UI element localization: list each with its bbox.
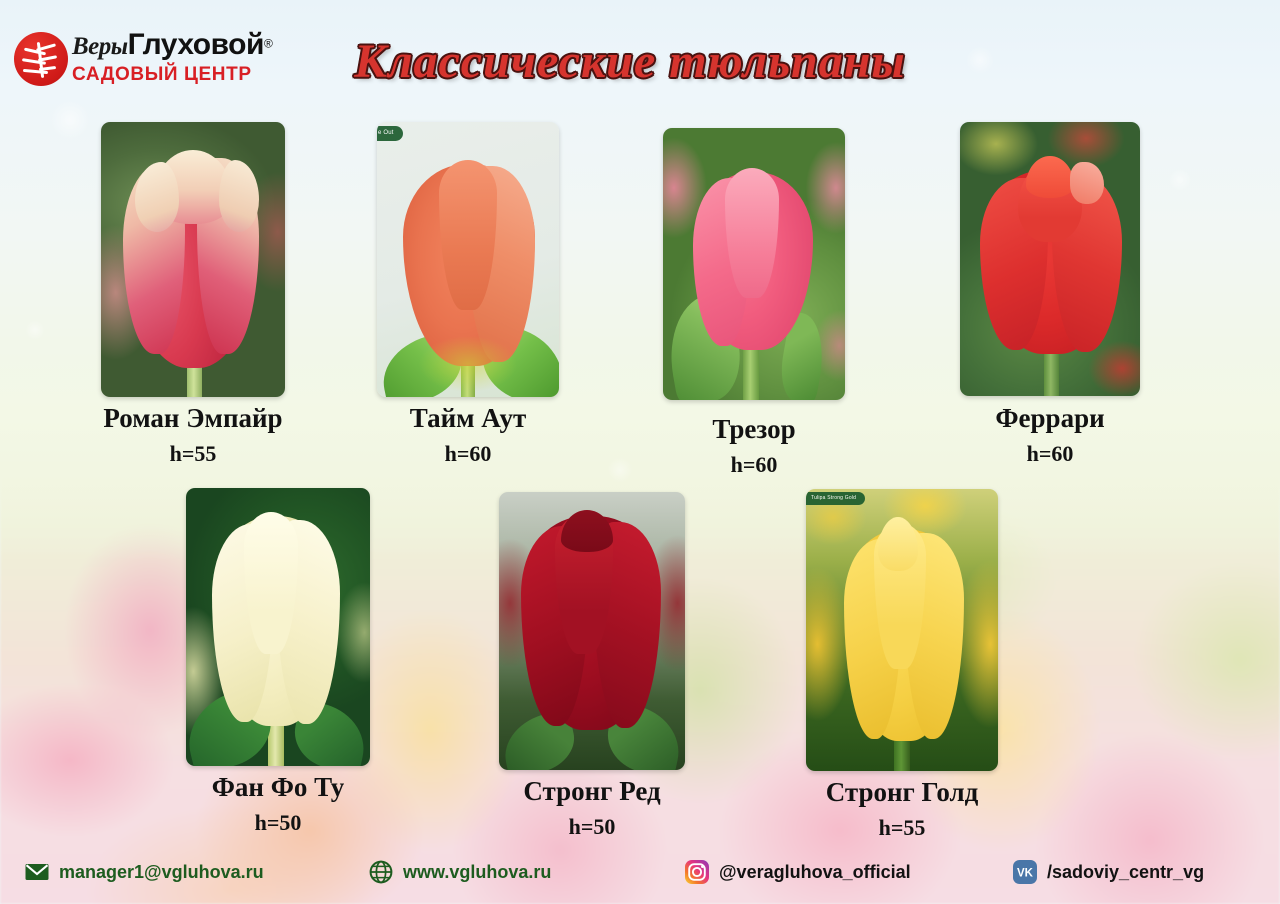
vk-text: /sadoviy_centr_vg [1047, 862, 1204, 883]
tulip-height: h=60 [995, 441, 1104, 467]
tulip-name: Трезор [712, 414, 795, 444]
tulip-name: Феррари [995, 403, 1104, 433]
tulip-caption: Феррари h=60 [995, 403, 1104, 467]
instagram-text: @veragluhova_official [719, 862, 911, 883]
tulip-pink-photo [663, 128, 845, 400]
tulip-caption: Стронг Ред h=50 [523, 776, 660, 840]
tulip-scarlet-photo [960, 122, 1140, 396]
tulip-caption: Стронг Голд h=55 [826, 777, 979, 841]
tulip-height: h=60 [712, 452, 795, 478]
tulip-name: Фан Фо Ту [212, 772, 345, 802]
contact-bar: manager1@vgluhova.ru www.vgluhova.ru [0, 846, 1280, 904]
email-text: manager1@vgluhova.ru [59, 862, 264, 883]
contact-vk[interactable]: VK /sadoviy_centr_vg [1012, 859, 1204, 885]
contact-website[interactable]: www.vgluhova.ru [368, 859, 551, 885]
brand-script-word: Веры [72, 33, 128, 60]
tulip-name: Роман Эмпайр [103, 403, 282, 433]
globe-icon [368, 859, 394, 885]
contact-instagram[interactable]: @veragluhova_official [684, 859, 911, 885]
tulip-crimson-photo [499, 492, 685, 770]
tulip-cream-photo [186, 488, 370, 766]
registered-mark-icon: ® [264, 37, 273, 51]
image-watermark-badge: Tulipa Strong Gold [806, 492, 865, 505]
tulip-height: h=60 [410, 441, 526, 467]
tulip-caption: Фан Фо Ту h=50 [212, 772, 345, 836]
tulip-height: h=55 [826, 815, 979, 841]
tulip-orange-photo: e Out [377, 122, 559, 397]
brand-bold-word: Глуховой [128, 28, 264, 61]
tulip-height: h=55 [103, 441, 282, 467]
bonsai-tree-in-red-circle-icon [14, 32, 68, 86]
tulip-height: h=50 [523, 814, 660, 840]
tulip-height: h=50 [212, 810, 345, 836]
envelope-icon [24, 859, 50, 885]
tulip-red-white-photo [101, 122, 285, 397]
tulip-yellow-photo: Tulipa Strong Gold [806, 489, 998, 771]
website-text: www.vgluhova.ru [403, 862, 551, 883]
image-watermark-badge: e Out [377, 126, 403, 141]
tulip-caption: Тайм Аут h=60 [410, 403, 526, 467]
svg-text:VK: VK [1017, 868, 1034, 880]
tulip-caption: Трезор h=60 [712, 414, 795, 478]
brand-subtitle: САДОВЫЙ ЦЕНТР [72, 64, 252, 86]
brand-wordmark: ВерыГлуховой® [72, 28, 273, 62]
brand-logo[interactable]: ВерыГлуховой® САДОВЫЙ ЦЕНТР [10, 28, 260, 90]
tulip-name: Стронг Голд [826, 777, 979, 807]
tulip-caption: Роман Эмпайр h=55 [103, 403, 282, 467]
page-title: Классические тюльпаны [300, 34, 960, 89]
tulip-name: Тайм Аут [410, 403, 526, 433]
tulip-name: Стронг Ред [523, 776, 660, 806]
instagram-icon [684, 859, 710, 885]
vk-icon: VK [1012, 859, 1038, 885]
contact-email[interactable]: manager1@vgluhova.ru [24, 859, 264, 885]
